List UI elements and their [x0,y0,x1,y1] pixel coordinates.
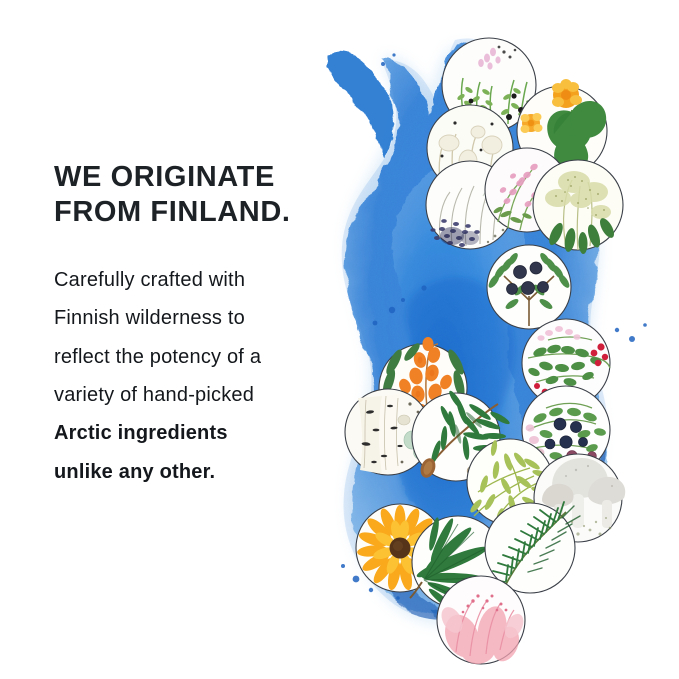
page-title: WE ORIGINATE FROM FINLAND. [54,160,354,231]
body-line-1: Carefully crafted with [54,261,354,299]
paint-splatter-dot [401,298,405,302]
paint-splatter-dot [353,576,360,583]
body-line-4: variety of hand-picked [54,376,354,414]
paint-splatter-dot [373,321,378,326]
poster-canvas: WE ORIGINATE FROM FINLAND. Carefully cra… [0,0,679,679]
paint-splatter-dot [643,323,647,327]
paint-splatter-dot [389,307,395,313]
paint-splatter-dot [341,564,345,568]
juniper-berry-circle [487,245,572,329]
paint-splatter-dot [421,285,426,290]
paint-splatter-dot [629,336,635,342]
paint-splatter-dot [615,328,619,332]
body-line-2: Finnish wilderness to [54,299,354,337]
headline-line-1: WE ORIGINATE [54,160,354,195]
marketing-copy-block: WE ORIGINATE FROM FINLAND. Carefully cra… [54,160,354,491]
paint-splatter-dot [396,596,400,600]
headline-line-2: FROM FINLAND. [54,195,354,230]
body-paragraph: Carefully crafted with Finnish wildernes… [54,261,354,491]
paint-splatter-dot [392,53,395,56]
body-line-6: unlike any other. [54,453,354,491]
paint-splatter-dot [369,588,373,592]
body-line-3: reflect the potency of a [54,338,354,376]
body-line-5: Arctic ingredients [54,414,354,452]
paint-splatter-dot [381,62,385,66]
